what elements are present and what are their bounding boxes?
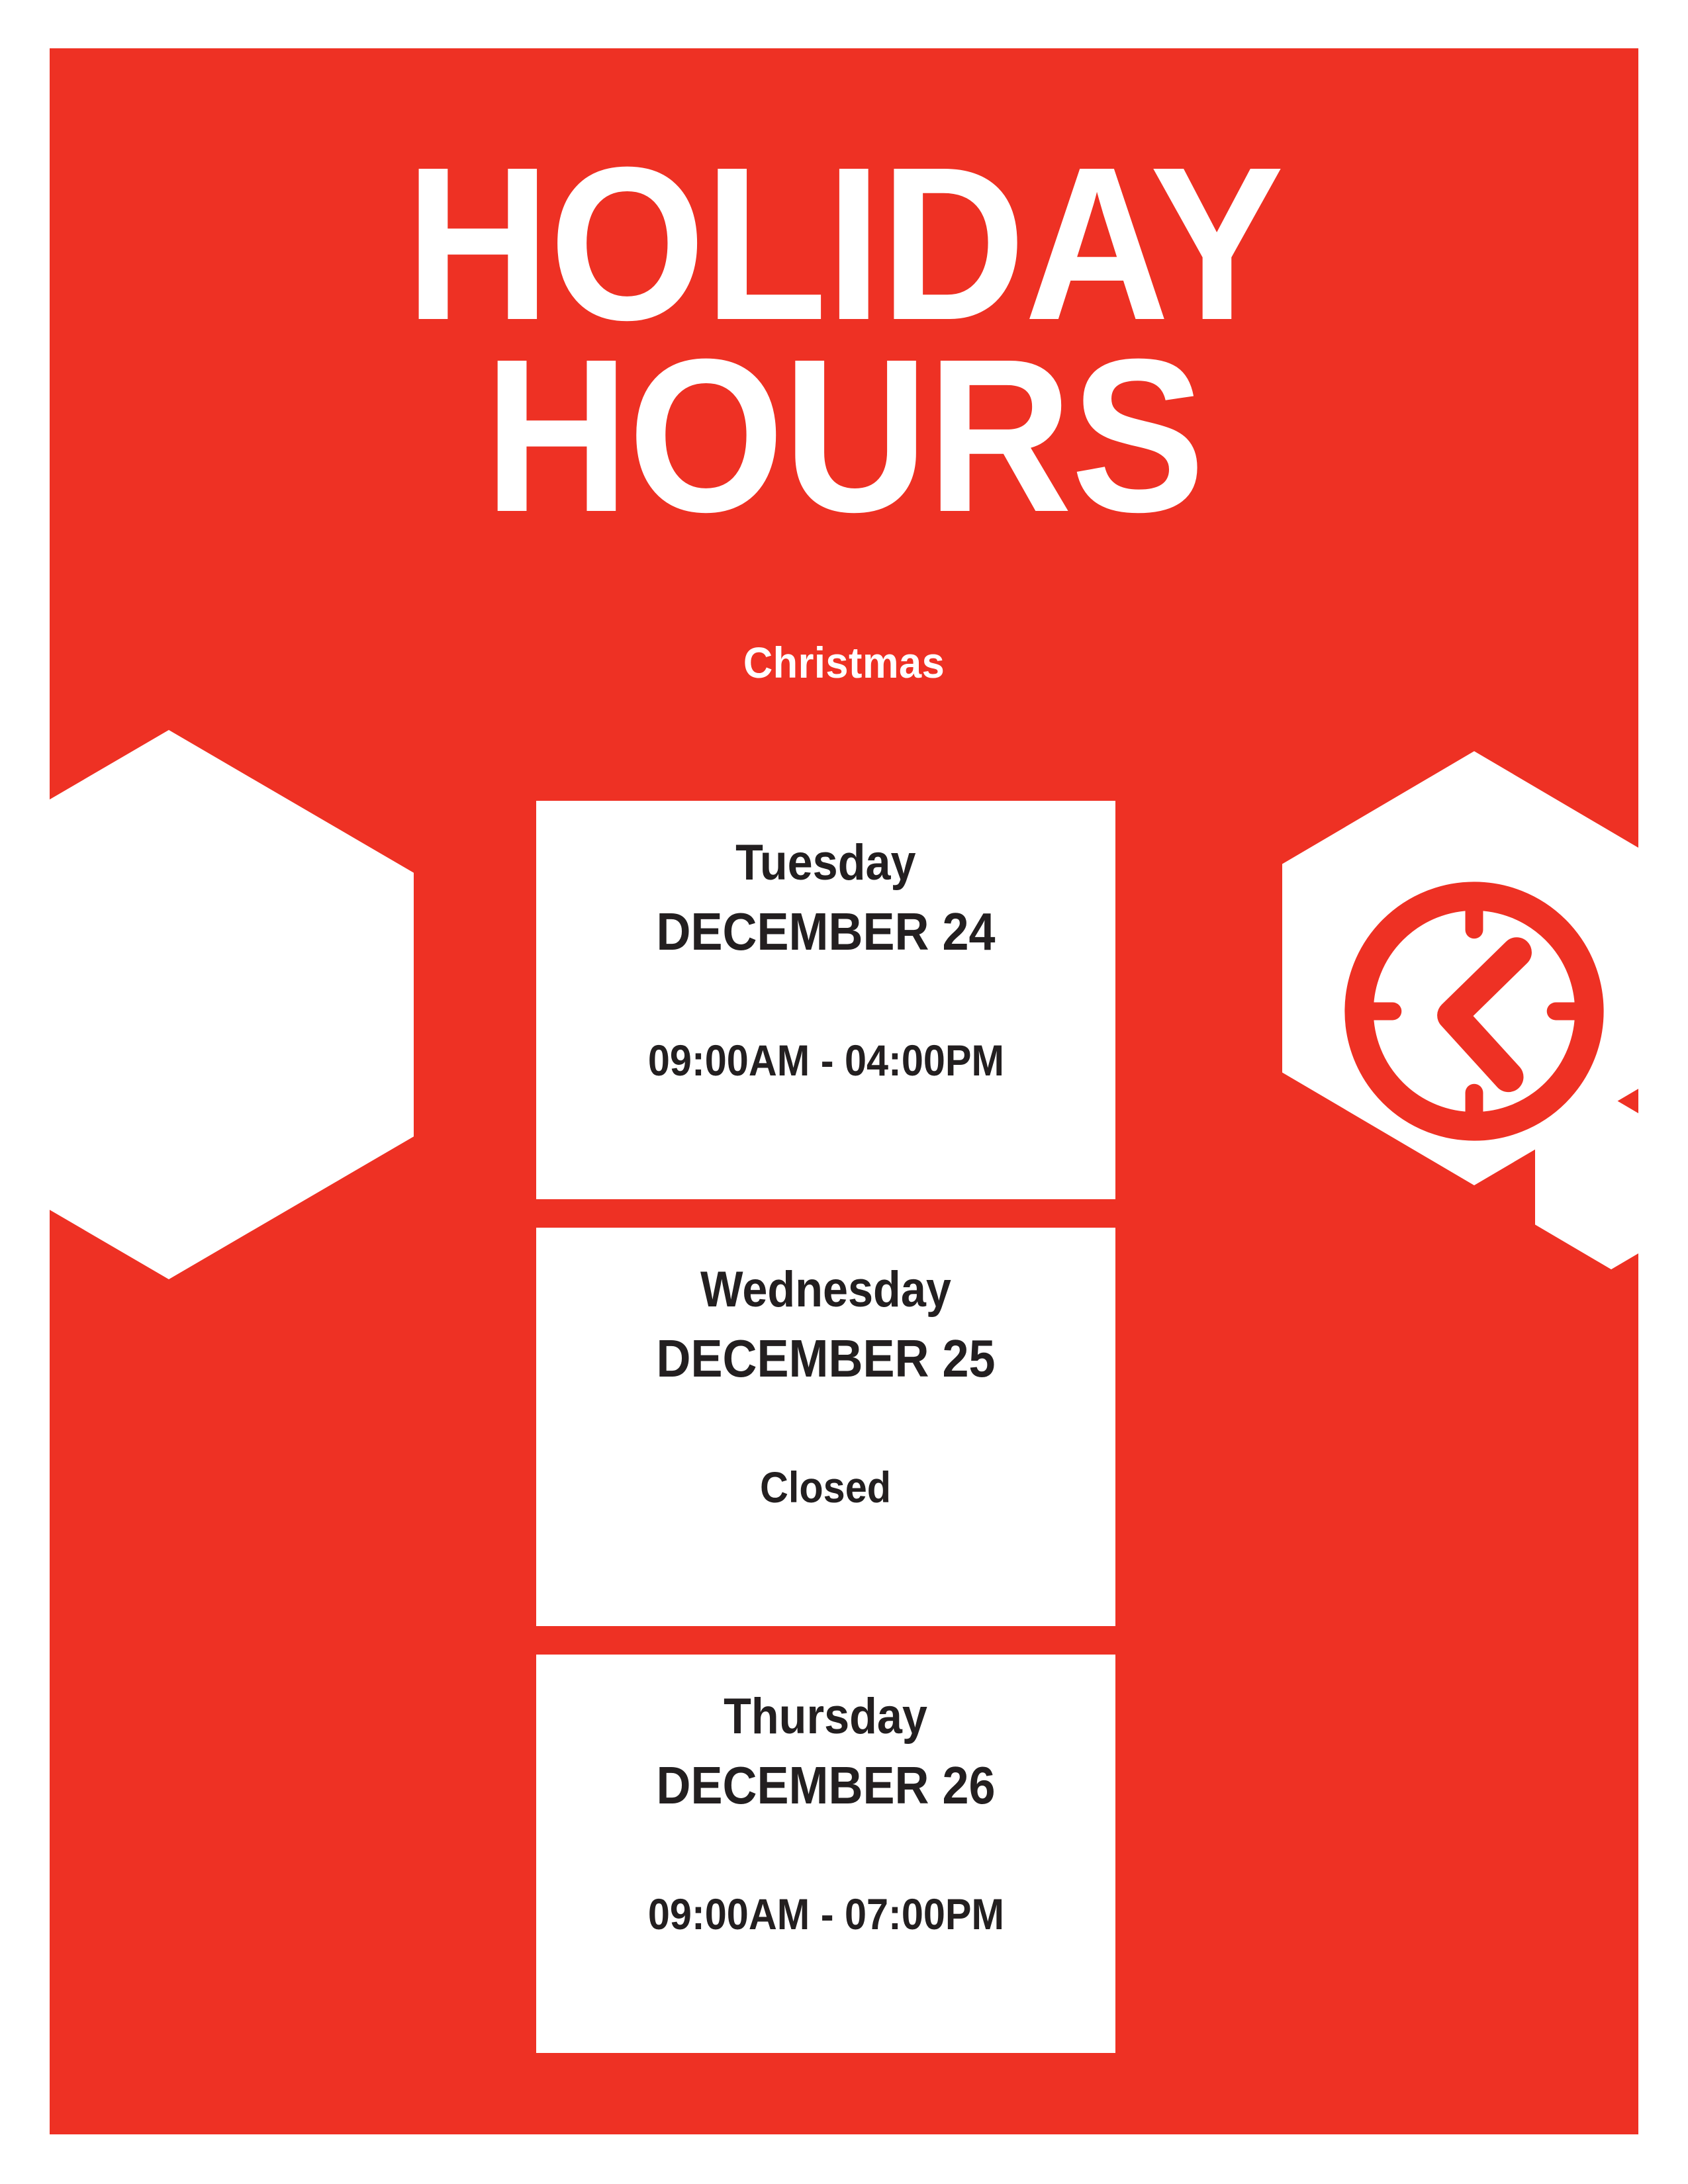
poster-subtitle: Christmas: [105, 637, 1583, 688]
holiday-hours-poster: HOLIDAY HOURS Christmas Tuesday DECEMBER…: [50, 48, 1638, 2134]
schedule-day: Tuesday: [735, 837, 915, 889]
hexagon-decoration-bottom-left-icon: [50, 730, 414, 1279]
schedule-card: Thursday DECEMBER 26 09:00AM - 07:00PM: [536, 1655, 1115, 2053]
schedule-hours: Closed: [760, 1465, 891, 1510]
schedule-card: Tuesday DECEMBER 24 09:00AM - 04:00PM: [536, 801, 1115, 1199]
schedule-day: Thursday: [724, 1690, 928, 1743]
schedule-hours: 09:00AM - 04:00PM: [647, 1038, 1004, 1083]
title-line-holiday: HOLIDAY: [113, 148, 1575, 340]
clock-icon: [1337, 874, 1611, 1148]
schedule-date: DECEMBER 25: [656, 1331, 995, 1387]
schedule-date: DECEMBER 24: [656, 904, 995, 960]
schedule-day: Wednesday: [700, 1263, 951, 1316]
title-line-hours: HOURS: [113, 340, 1575, 531]
schedule-hours: 09:00AM - 07:00PM: [647, 1891, 1004, 1937]
schedule-list: Tuesday DECEMBER 24 09:00AM - 04:00PM We…: [536, 801, 1115, 2081]
schedule-date: DECEMBER 26: [656, 1758, 995, 1813]
page-title: HOLIDAY HOURS: [50, 148, 1638, 532]
schedule-card: Wednesday DECEMBER 25 Closed: [536, 1228, 1115, 1626]
